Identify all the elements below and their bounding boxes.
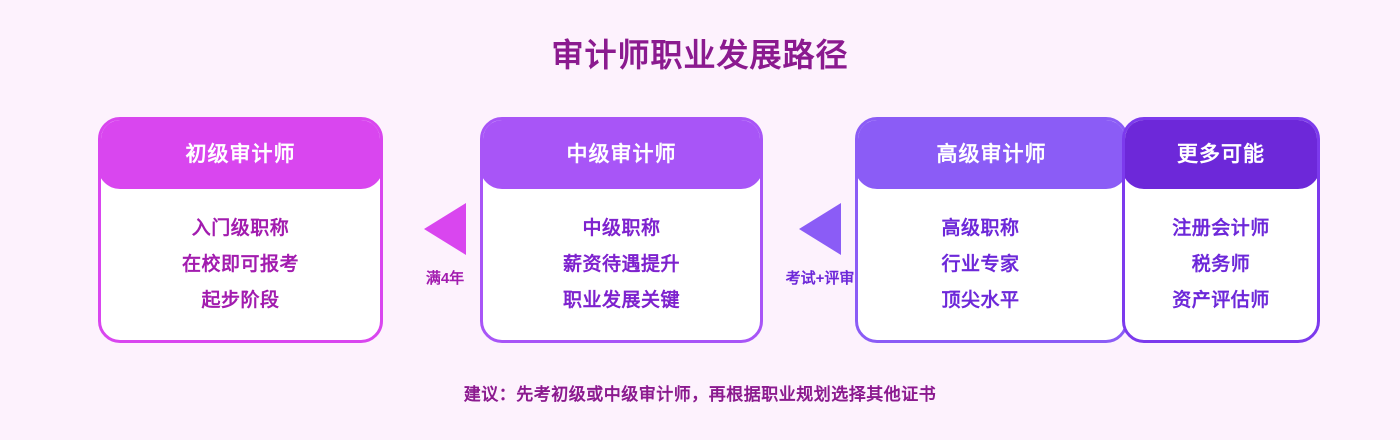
footer-note: 建议：先考初级或中级审计师，再根据职业规划选择其他证书 — [0, 380, 1400, 405]
card-body-junior-auditor: 入门级职称 在校即可报考 起步阶段 — [101, 189, 380, 340]
card-senior-auditor[interactable]: 高级审计师 高级职称 行业专家 顶尖水平 — [855, 117, 1128, 343]
card-item: 职业发展关键 — [563, 291, 680, 310]
card-header-junior-auditor: 初级审计师 — [98, 117, 383, 189]
card-body-intermediate-auditor: 中级职称 薪资待遇提升 职业发展关键 — [483, 189, 760, 340]
career-path-diagram: 审计师职业发展路径 初级审计师 入门级职称 在校即可报考 起步阶段 满4年 中级… — [0, 0, 1400, 440]
card-intermediate-auditor[interactable]: 中级审计师 中级职称 薪资待遇提升 职业发展关键 — [480, 117, 763, 343]
page-title: 审计师职业发展路径 — [0, 30, 1400, 76]
card-item: 起步阶段 — [201, 291, 279, 310]
card-junior-auditor[interactable]: 初级审计师 入门级职称 在校即可报考 起步阶段 — [98, 117, 383, 343]
card-item: 中级职称 — [582, 219, 660, 238]
triangle-left-icon — [424, 203, 466, 255]
card-item: 行业专家 — [941, 255, 1019, 274]
card-body-senior-auditor: 高级职称 行业专家 顶尖水平 — [858, 189, 1125, 340]
card-item: 顶尖水平 — [941, 291, 1019, 310]
card-item: 入门级职称 — [192, 219, 290, 238]
card-header-more-possibilities: 更多可能 — [1122, 117, 1320, 189]
card-body-more-possibilities: 注册会计师 税务师 资产评估师 — [1125, 189, 1317, 340]
card-header-intermediate-auditor: 中级审计师 — [480, 117, 763, 189]
card-more-possibilities[interactable]: 更多可能 注册会计师 税务师 资产评估师 — [1122, 117, 1320, 343]
card-item: 在校即可报考 — [182, 255, 299, 274]
card-item: 注册会计师 — [1172, 219, 1270, 238]
card-item: 资产评估师 — [1172, 291, 1270, 310]
card-item: 薪资待遇提升 — [563, 255, 680, 274]
card-header-senior-auditor: 高级审计师 — [855, 117, 1128, 189]
triangle-left-icon — [799, 203, 841, 255]
card-item: 高级职称 — [941, 219, 1019, 238]
card-item: 税务师 — [1192, 255, 1251, 274]
